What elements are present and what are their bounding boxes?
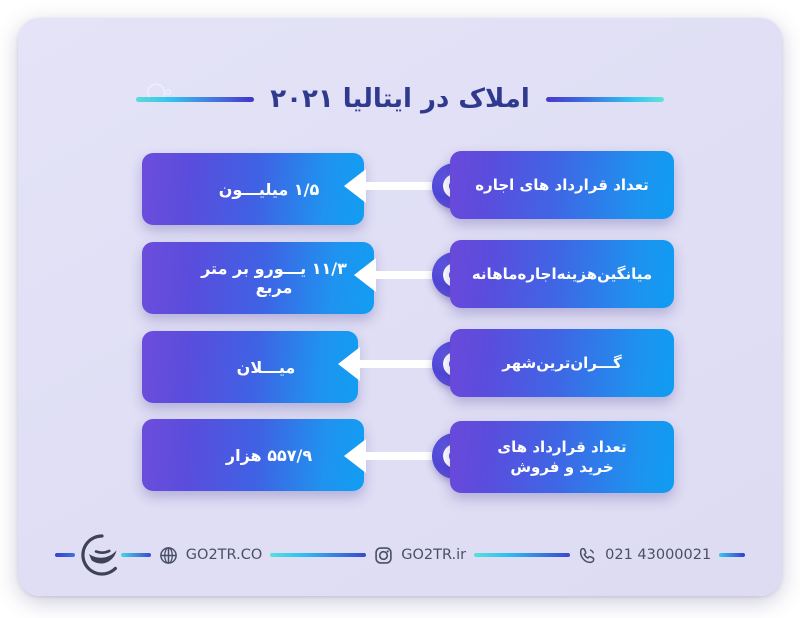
footer-item-phone[interactable]: 021 43000021 <box>570 546 719 565</box>
stat-value-card[interactable]: ۱۱/۳ یـــورو بر متر مربع <box>142 242 374 314</box>
footer-rule <box>270 553 366 557</box>
stat-value-card[interactable]: ۵۵۷/۹ هزار <box>142 419 364 491</box>
stat-label-text: میانگین‌هزینه‌اجاره‌ماهانه <box>472 264 652 284</box>
stat-label-text: تعداد قرارداد های اجاره <box>475 175 649 195</box>
stat-value-text: میـــلان <box>237 358 296 377</box>
stat-label-text: گـــران‌ترین‌شهر <box>502 353 621 373</box>
stat-row: ۱/۵ میلیـــون تعداد قرارداد های اجاره <box>18 151 782 223</box>
stat-value-card[interactable]: ۱/۵ میلیـــون <box>142 153 364 225</box>
phone-icon <box>578 546 597 565</box>
stat-label-line-2: خرید و فروش <box>497 457 626 477</box>
stat-value-card[interactable]: میـــلان <box>142 331 358 403</box>
stat-row: ۵۵۷/۹ هزار تعداد قرارداد های خرید و فروش <box>18 417 782 495</box>
footer-rule <box>719 553 745 557</box>
page-title: املاک در ایتالیا ۲۰۲۱ <box>270 84 530 114</box>
page-title-row: املاک در ایتالیا ۲۰۲۱ <box>18 76 782 122</box>
stat-value-text: ۱۱/۳ یـــورو بر متر مربع <box>188 259 360 297</box>
footer-bar: GO2TR.CO GO2TR.ir <box>18 523 782 587</box>
gradient-rule-left <box>136 97 254 102</box>
go2tr-logo <box>75 532 121 578</box>
stat-label-line-1: تعداد قرارداد های <box>497 437 626 457</box>
footer-item-website[interactable]: GO2TR.CO <box>151 546 270 565</box>
footer-item-instagram-text: GO2TR.ir <box>401 547 466 563</box>
footer-rule <box>474 553 570 557</box>
stat-row: میـــلان گـــران‌ترین‌شهر <box>18 329 782 401</box>
infographic-canvas: ⧂ ⧂ املاک در ایتالیا ۲۰۲۱ ۱/۵ میلیـــون … <box>0 0 800 618</box>
stat-label-card[interactable]: میانگین‌هزینه‌اجاره‌ماهانه <box>450 240 674 308</box>
stat-value-text: ۱/۵ میلیـــون <box>219 180 320 199</box>
footer-rule <box>121 553 151 557</box>
footer-item-website-text: GO2TR.CO <box>186 547 262 563</box>
stat-value-text: ۵۵۷/۹ هزار <box>226 446 312 465</box>
stat-label-text-multiline: تعداد قرارداد های خرید و فروش <box>497 437 626 478</box>
footer-item-instagram[interactable]: GO2TR.ir <box>366 546 474 565</box>
footer-rule <box>55 553 75 557</box>
instagram-icon <box>374 546 393 565</box>
stat-label-card[interactable]: تعداد قرارداد های خرید و فروش <box>450 421 674 493</box>
stat-label-card[interactable]: گـــران‌ترین‌شهر <box>450 329 674 397</box>
stat-row: ۱۱/۳ یـــورو بر متر مربع میانگین‌هزینه‌ا… <box>18 240 782 312</box>
gradient-rule-right <box>546 97 664 102</box>
footer-item-phone-text: 021 43000021 <box>605 547 711 563</box>
globe-icon <box>159 546 178 565</box>
infographic-panel: ⧂ ⧂ املاک در ایتالیا ۲۰۲۱ ۱/۵ میلیـــون … <box>18 18 782 596</box>
stat-label-card[interactable]: تعداد قرارداد های اجاره <box>450 151 674 219</box>
